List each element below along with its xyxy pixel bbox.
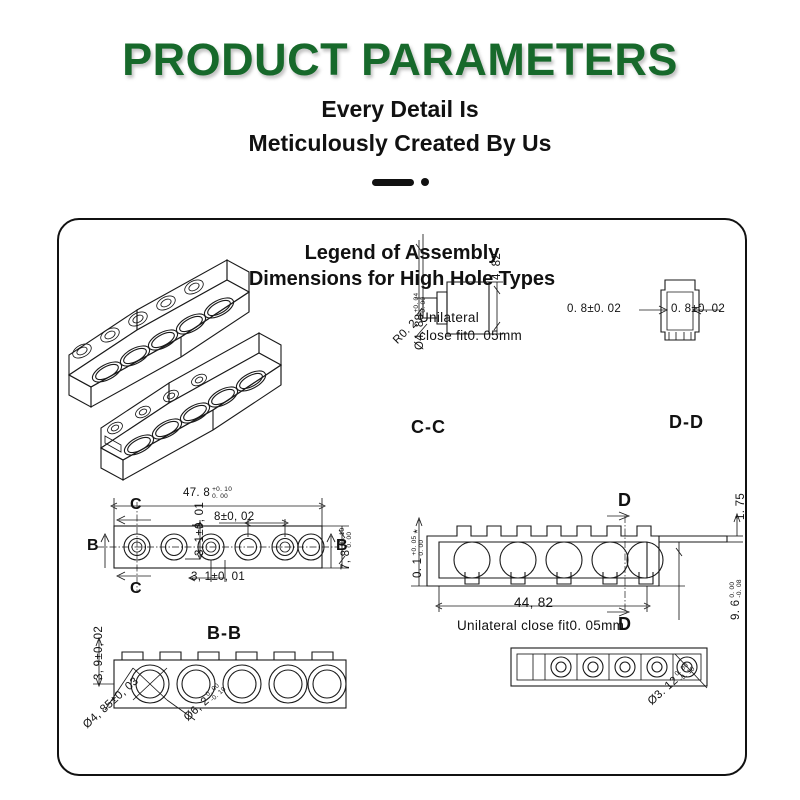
decorative-divider [0,176,800,188]
section-dd-label: D-D [669,412,704,433]
section-bb-dim-top-offset: 3, 9±0, 02 [93,626,105,680]
front-view-dim-length: 47. 8 +0. 10 0. 00 [183,486,232,500]
tol-upper: +0. 10 [212,486,232,493]
tol-upper: 0. 00 [729,579,736,597]
page-title: PRODUCT PARAMETERS [0,34,800,86]
right-view-marker-d-top: D [618,490,632,511]
page-header: PRODUCT PARAMETERS Every Detail Is Metic… [0,0,800,205]
front-length-tolerance: +0. 10 0. 00 [212,486,232,500]
front-view-marker-c-bottom: C [130,580,143,598]
section-cc-diameter-value: Ø4. 88 [414,314,426,350]
tol-lower: 0. 00 [212,493,232,500]
section-cc-note-line1: Unilateral [419,310,479,325]
tol-lower: -0. 08 [736,579,743,597]
right-note-text: Unilateral close fit [457,618,570,633]
subtitle-line-2: Meticulously Created By Us [0,130,800,157]
right-height-tolerance: 0. 00 -0. 08 [729,579,743,597]
divider-bar-icon [372,179,414,186]
right-note-value: 0. 05mm [570,618,625,633]
section-dd-dim-right: 0. 8±0. 02 [671,303,725,315]
front-view-dim-edge-bottom: 3, 1±0, 01 [191,571,245,583]
section-cc-note-line2: close fit0. 05mm [419,328,522,343]
subtitle-line-1: Every Detail Is [0,96,800,123]
section-cc-diameter-tolerance: +0. 04 0. 00 [413,293,427,313]
tol-lower: 0. 00 [418,536,425,556]
section-cc-dim-height: 4. 82 [491,253,503,280]
section-bb-label: B-B [207,623,242,644]
tol-upper: +0. 04 [413,293,420,313]
front-view-marker-c-top: C [130,496,143,514]
front-view-marker-b-right: B [336,537,349,555]
right-view-geometry [411,512,743,620]
right-view-dim-length: 44, 82 [514,595,553,610]
page-root: PRODUCT PARAMETERS Every Detail Is Metic… [0,0,800,800]
tol-lower: 0. 00 [420,293,427,313]
tol-upper: +0. 05 [411,536,418,556]
right-gap-value: 0. 1 [412,558,424,578]
right-gap-tolerance: +0. 05 0. 00 [411,536,425,556]
right-view-marker-d-bottom: D [618,614,632,635]
section-cc-note-value: 0. 05mm [467,328,522,343]
right-view-note: Unilateral close fit0. 05mm [457,618,624,633]
right-view-dim-gap: 0. 1 +0. 05 0. 00 * [411,529,425,578]
section-dd-dim-left: 0. 8±0. 02 [567,303,621,315]
right-gap-star: * [412,529,424,534]
drawing-panel: Legend of Assembly Dimensions for High H… [57,218,747,776]
right-height-value: 9. 6 [730,600,742,620]
divider-dot-icon [421,178,429,186]
front-view-dim-pitch: 8±0, 02 [214,511,254,523]
front-view-dim-edge-top: 3. 1±0, 01 [194,502,206,556]
front-view-marker-b-left: B [87,537,100,555]
technical-drawing-canvas [59,220,745,774]
front-length-value: 47. 8 [183,487,210,499]
section-cc-label: C-C [411,417,446,438]
right-view-dim-height: 9. 6 0. 00 -0. 08 [729,579,743,620]
right-view-dim-small-height: 1. 75 [735,493,747,520]
